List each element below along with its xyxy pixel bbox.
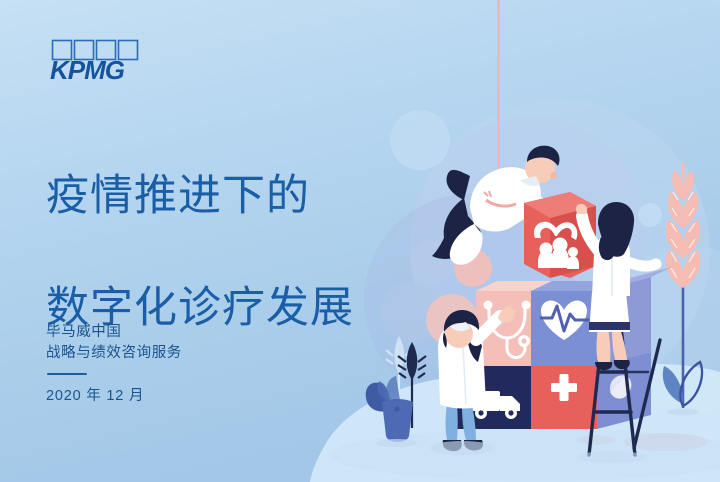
cube-cross [531, 366, 597, 429]
footer-divider [47, 373, 87, 375]
title-line-1: 疫情推进下的 [46, 168, 446, 224]
kpmg-wordmark: KPMG [50, 55, 125, 84]
org-line-2: 战略与绩效咨询服务 [46, 343, 306, 364]
cover-slide: KPMG 疫情推进下的 数字化诊疗发展 毕马威中国 战略与绩效咨询服务 2020… [0, 0, 720, 482]
pink-feather-plant [663, 162, 702, 416]
kpmg-logo-mark: KPMG [50, 38, 146, 84]
publication-date: 2020 年 12 月 [46, 384, 306, 405]
kpmg-logo: KPMG [50, 38, 146, 84]
org-line-1: 毕马威中国 [46, 322, 306, 343]
hanging-rope [497, 0, 500, 168]
footer-block: 毕马威中国 战略与绩效咨询服务 2020 年 12 月 [46, 322, 306, 405]
